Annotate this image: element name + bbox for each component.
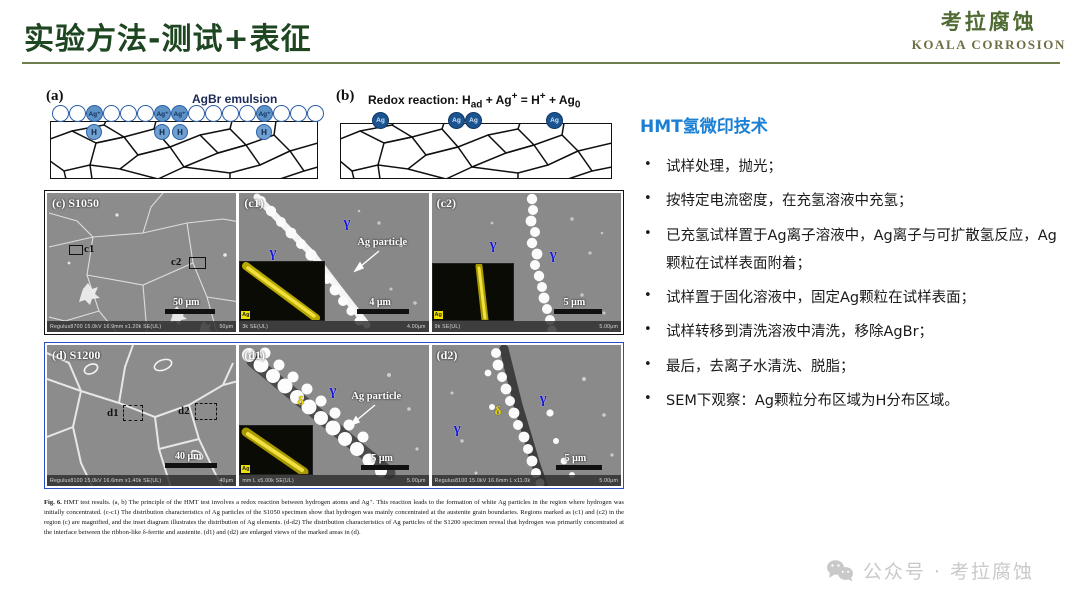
sem-metadata-c: Regulus8700 15.0kV 16.9mm x1.20k SE(UL) … xyxy=(47,321,236,332)
gamma-phase-label: γ xyxy=(490,237,497,254)
sem-panel-d1: (d1) γ γ δ Ag particle 5 μm xyxy=(239,345,428,486)
page-header: 实验方法-测试+表征 考拉腐蚀 KOALA CORROSION xyxy=(0,0,1080,66)
schematic-panel-a: (a) AgBr emulsion xyxy=(44,86,324,184)
redox-eq-part3: = H xyxy=(517,93,539,107)
figure-caption-label: Fig. 6. xyxy=(44,499,62,506)
eds-element-chip-c1: Ag xyxy=(241,311,250,319)
roi-label-d1: d1 xyxy=(107,407,119,419)
hydrogen-atom: H xyxy=(86,124,102,140)
scalebar-c1 xyxy=(357,309,409,314)
sem-row-s1050: (c) S1050 c1 c2 50 μm Regulus8700 15.0kV… xyxy=(44,190,624,335)
redox-eq-part2: + Ag xyxy=(482,93,511,107)
gamma-phase-label: γ xyxy=(329,383,336,400)
sem-meta-right-c1: 4.00μm xyxy=(407,324,426,330)
panel-c-tag: (c) S1050 xyxy=(52,196,99,211)
sem-panel-c: (c) S1050 c1 c2 50 μm Regulus8700 15.0kV… xyxy=(47,193,236,332)
scalebar-c2 xyxy=(554,309,602,314)
redox-eq-part1: Redox reaction: H xyxy=(368,93,471,107)
ag-ion-circle: Ag⁺ xyxy=(171,105,188,122)
agbr-circle xyxy=(239,105,256,122)
roi-box-c2 xyxy=(189,257,206,269)
callout-arrow-c1 xyxy=(345,249,385,279)
list-item: 试样转移到清洗溶液中清洗，移除AgBr； xyxy=(640,318,1068,346)
eds-map-inset-c1: Ag xyxy=(239,261,325,321)
list-item: 按特定电流密度，在充氢溶液中充氢； xyxy=(640,187,1068,215)
eds-map-inset-c2: Ag xyxy=(432,263,514,321)
schematic-row: (a) AgBr emulsion xyxy=(34,86,634,184)
sem-meta-left-c1: 3k SE(UL) xyxy=(242,324,268,330)
ag-particle-circle: Ag xyxy=(448,112,465,129)
agbr-circle xyxy=(137,105,154,122)
sem-meta-right-d2: 5.00μm xyxy=(599,478,618,484)
page-title: 实验方法-测试+表征 xyxy=(24,14,312,58)
scalebar-label-d2: 5 μm xyxy=(565,453,587,464)
redox-eq-sub1: ad xyxy=(471,99,483,110)
delta-ferrite-label: δ xyxy=(495,403,502,419)
sem-panel-d2: (d2) γ γ δ 5 μm Regulus8100 15.0kV 16.6m… xyxy=(432,345,621,486)
schematic-panel-b: (b) Redox reaction: Had + Ag+ = H+ + Ag0 xyxy=(334,86,624,184)
scalebar-label-d: 40 μm xyxy=(175,451,202,462)
eds-element-chip-c2: Ag xyxy=(434,311,443,319)
panel-c2-tag: (c2) xyxy=(437,196,456,211)
sem-panel-c2: (c2) γ γ 5 μm Ag 9k SE(UL) 5.00 xyxy=(432,193,621,332)
procedure-bullet-list: 试样处理，抛光； 按特定电流密度，在充氢溶液中充氢； 已充氢试样置于Ag离子溶液… xyxy=(640,153,1068,415)
ag-particle-circle: Ag xyxy=(465,112,482,129)
ag-particle-circle: Ag xyxy=(546,112,563,129)
agbr-circle xyxy=(205,105,222,122)
ag-ion-circle: Ag⁺ xyxy=(256,105,273,122)
redox-eq-sub2: 0 xyxy=(575,99,581,110)
gamma-phase-label: γ xyxy=(269,245,276,262)
scalebar-label-c2: 5 μm xyxy=(564,297,586,308)
brand-logo-en: KOALA CORROSION xyxy=(912,38,1066,51)
sem-meta-left-d1: mm L x5.00k SE(UL) xyxy=(242,478,294,484)
brand-logo: 考拉腐蚀 KOALA CORROSION xyxy=(912,12,1066,51)
scalebar-c xyxy=(165,309,215,314)
agbr-circle xyxy=(103,105,120,122)
agbr-circle xyxy=(222,105,239,122)
wechat-icon xyxy=(826,559,854,582)
figure-caption: Fig. 6. HMT test results. (a, b) The pri… xyxy=(44,498,624,538)
gamma-phase-label: γ xyxy=(540,391,547,408)
watermark-text: 公众号 · 考拉腐蚀 xyxy=(863,557,1034,584)
sem-meta-right-d: 40μm xyxy=(219,478,233,484)
roi-label-c2: c2 xyxy=(171,256,181,268)
sem-metadata-d1: mm L x5.00k SE(UL) 5.00μm xyxy=(239,475,428,486)
sem-panel-c1: (c1) γ γ Ag particle 4 μm xyxy=(239,193,428,332)
sem-row-s1200: (d) S1200 d1 d2 40 μm Regulus8100 15.0kV… xyxy=(44,342,624,489)
scalebar-d1 xyxy=(361,465,409,470)
content-column: HMT氢微印技术 试样处理，抛光； 按特定电流密度，在充氢溶液中充氢； 已充氢试… xyxy=(640,112,1068,421)
eds-ag-distribution-c2 xyxy=(433,264,514,321)
panel-d1-tag: (d1) xyxy=(244,348,265,363)
sem-metadata-d: Regulus8100 15.0kV 16.6mm x1.40k SE(UL) … xyxy=(47,475,236,486)
list-item: 最后，去离子水清洗、脱脂； xyxy=(640,353,1068,381)
section-title: HMT氢微印技术 xyxy=(640,112,1068,137)
redox-eq-part4: + Ag xyxy=(546,93,575,107)
figure-6: (a) AgBr emulsion xyxy=(34,86,634,576)
hydrogen-atom: H xyxy=(154,124,170,140)
gamma-phase-label: γ xyxy=(343,215,350,232)
panel-a-heading: AgBr emulsion xyxy=(192,92,277,106)
eds-element-chip-d1: Ag xyxy=(241,465,250,473)
figure-caption-text: HMT test results. (a, b) The principle o… xyxy=(44,499,624,536)
roi-box-d2 xyxy=(195,403,217,420)
agbr-circle xyxy=(273,105,290,122)
wechat-watermark: 公众号 · 考拉腐蚀 xyxy=(826,557,1034,584)
eds-ag-distribution-d1 xyxy=(240,426,313,475)
panel-d2-tag: (d2) xyxy=(437,348,458,363)
gamma-phase-label: γ xyxy=(550,247,557,264)
roi-label-c1: c1 xyxy=(84,243,94,255)
eds-ag-distribution-c1 xyxy=(240,262,325,321)
roi-box-c1 xyxy=(69,245,83,255)
agbr-circle xyxy=(69,105,86,122)
scalebar-d2 xyxy=(556,465,602,470)
gamma-phase-label: γ xyxy=(454,421,461,438)
agbr-circle xyxy=(120,105,137,122)
ag-ion-circle: Ag⁺ xyxy=(86,105,103,122)
agbr-circle xyxy=(307,105,324,122)
list-item: 已充氢试样置于Ag离子溶液中，Ag离子与可扩散氢反应，Ag颗粒在试样表面附着； xyxy=(640,222,1068,279)
eds-map-inset-d1: Ag xyxy=(239,425,313,475)
panel-d-tag: (d) S1200 xyxy=(52,348,100,363)
sem-meta-left-c2: 9k SE(UL) xyxy=(435,324,461,330)
hydrogen-atom: H xyxy=(256,124,272,140)
delta-ferrite-label: δ xyxy=(297,393,304,409)
list-item: 试样处理，抛光； xyxy=(640,153,1068,181)
agbr-circle xyxy=(52,105,69,122)
ag-particle-circle: Ag xyxy=(372,112,389,129)
sem-metadata-c1: 3k SE(UL) 4.00μm xyxy=(239,321,428,332)
scalebar-label-d1: 5 μm xyxy=(371,453,393,464)
sem-panel-d: (d) S1200 d1 d2 40 μm Regulus8100 15.0kV… xyxy=(47,345,236,486)
sem-meta-left-d2: Regulus8100 15.0kV 16.6mm L x11.0k xyxy=(435,478,531,484)
list-item: SEM下观察：Ag颗粒分布区域为H分布区域。 xyxy=(640,387,1068,415)
scalebar-label-c1: 4 μm xyxy=(369,297,391,308)
sem-meta-left-c: Regulus8700 15.0kV 16.9mm x1.20k SE(UL) xyxy=(50,324,161,330)
header-divider xyxy=(22,62,1060,64)
scalebar-label-c: 50 μm xyxy=(173,297,200,308)
panel-b-tag: (b) xyxy=(336,88,354,105)
callout-arrow-d1 xyxy=(341,403,381,433)
roi-label-d2: d2 xyxy=(178,405,190,417)
sem-metadata-d2: Regulus8100 15.0kV 16.6mm L x11.0k 5.00μ… xyxy=(432,475,621,486)
ag-ion-circle: Ag⁺ xyxy=(154,105,171,122)
agbr-circle xyxy=(290,105,307,122)
brand-logo-cn: 考拉腐蚀 xyxy=(912,12,1066,33)
grain-structure-b xyxy=(340,123,612,179)
agbr-circle xyxy=(188,105,205,122)
sem-meta-left-d: Regulus8100 15.0kV 16.6mm x1.40k SE(UL) xyxy=(50,478,161,484)
sem-meta-right-d1: 5.00μm xyxy=(407,478,426,484)
list-item: 试样置于固化溶液中，固定Ag颗粒在试样表面； xyxy=(640,284,1068,312)
panel-b-heading: Redox reaction: Had + Ag+ = H+ + Ag0 xyxy=(368,91,580,110)
ag-particle-callout-d1: Ag particle xyxy=(351,391,401,402)
scalebar-d xyxy=(165,463,217,468)
ag-particle-callout-c1: Ag particle xyxy=(357,237,407,248)
panel-c1-tag: (c1) xyxy=(244,196,263,211)
roi-box-d1 xyxy=(123,405,143,421)
panel-a-tag: (a) xyxy=(46,88,64,105)
sem-meta-right-c2: 5.00μm xyxy=(599,324,618,330)
sem-metadata-c2: 9k SE(UL) 5.00μm xyxy=(432,321,621,332)
sem-meta-right-c: 50μm xyxy=(219,324,233,330)
hydrogen-atom: H xyxy=(172,124,188,140)
